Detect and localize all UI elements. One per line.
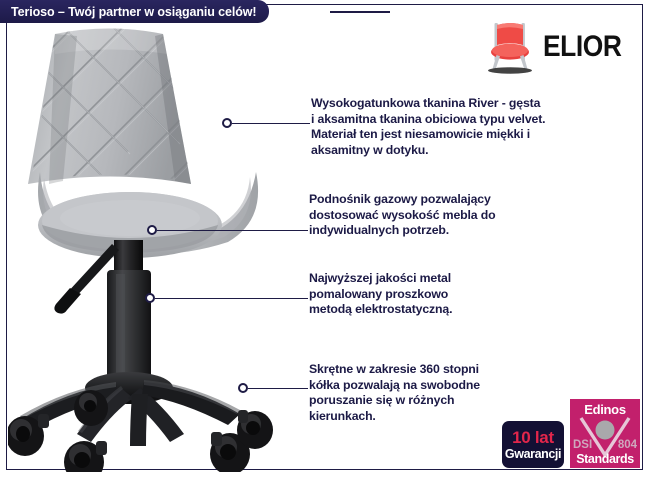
product-chair-illustration [8,22,298,472]
red-chair-logo-icon [483,19,537,75]
banner-title: Terioso – Twój partner w osiąganiu celów… [11,5,256,19]
edinos-code-right: 804 [618,439,637,451]
leader-line-gas-lift [157,230,308,231]
brand-name: ELIOR [543,30,621,64]
callout-dot-fabric [222,118,232,128]
warranty-badge: 10 lat Gwarancji [502,421,564,468]
leader-line-metal [155,298,308,299]
warranty-years: 10 lat [512,429,554,447]
brand-logo: ELIOR [483,18,633,76]
header-banner: Terioso – Twój partner w osiąganiu celów… [0,0,269,23]
edinos-label: Standards [570,452,640,466]
callout-dot-casters [238,383,248,393]
edinos-code-left: DSI [573,439,592,451]
callout-dot-metal [145,293,155,303]
callout-text-fabric: Wysokogatunkowa tkanina River - gęsta i … [311,96,631,158]
warranty-label: Gwarancji [505,447,561,461]
callout-text-gas-lift: Podnośnik gazowy pozwalający dostosować … [309,192,629,239]
edinos-standards-badge: Edinos DSI 804 Standards [570,399,640,468]
infographic-page: Terioso – Twój partner w osiąganiu celów… [0,0,650,477]
callout-text-metal: Najwyższej jakości metal pomalowany pros… [309,271,629,318]
callout-dot-gas-lift [147,225,157,235]
leader-line-casters [248,388,308,389]
banner-tail-line [330,11,390,13]
leader-line-fabric [232,123,310,124]
